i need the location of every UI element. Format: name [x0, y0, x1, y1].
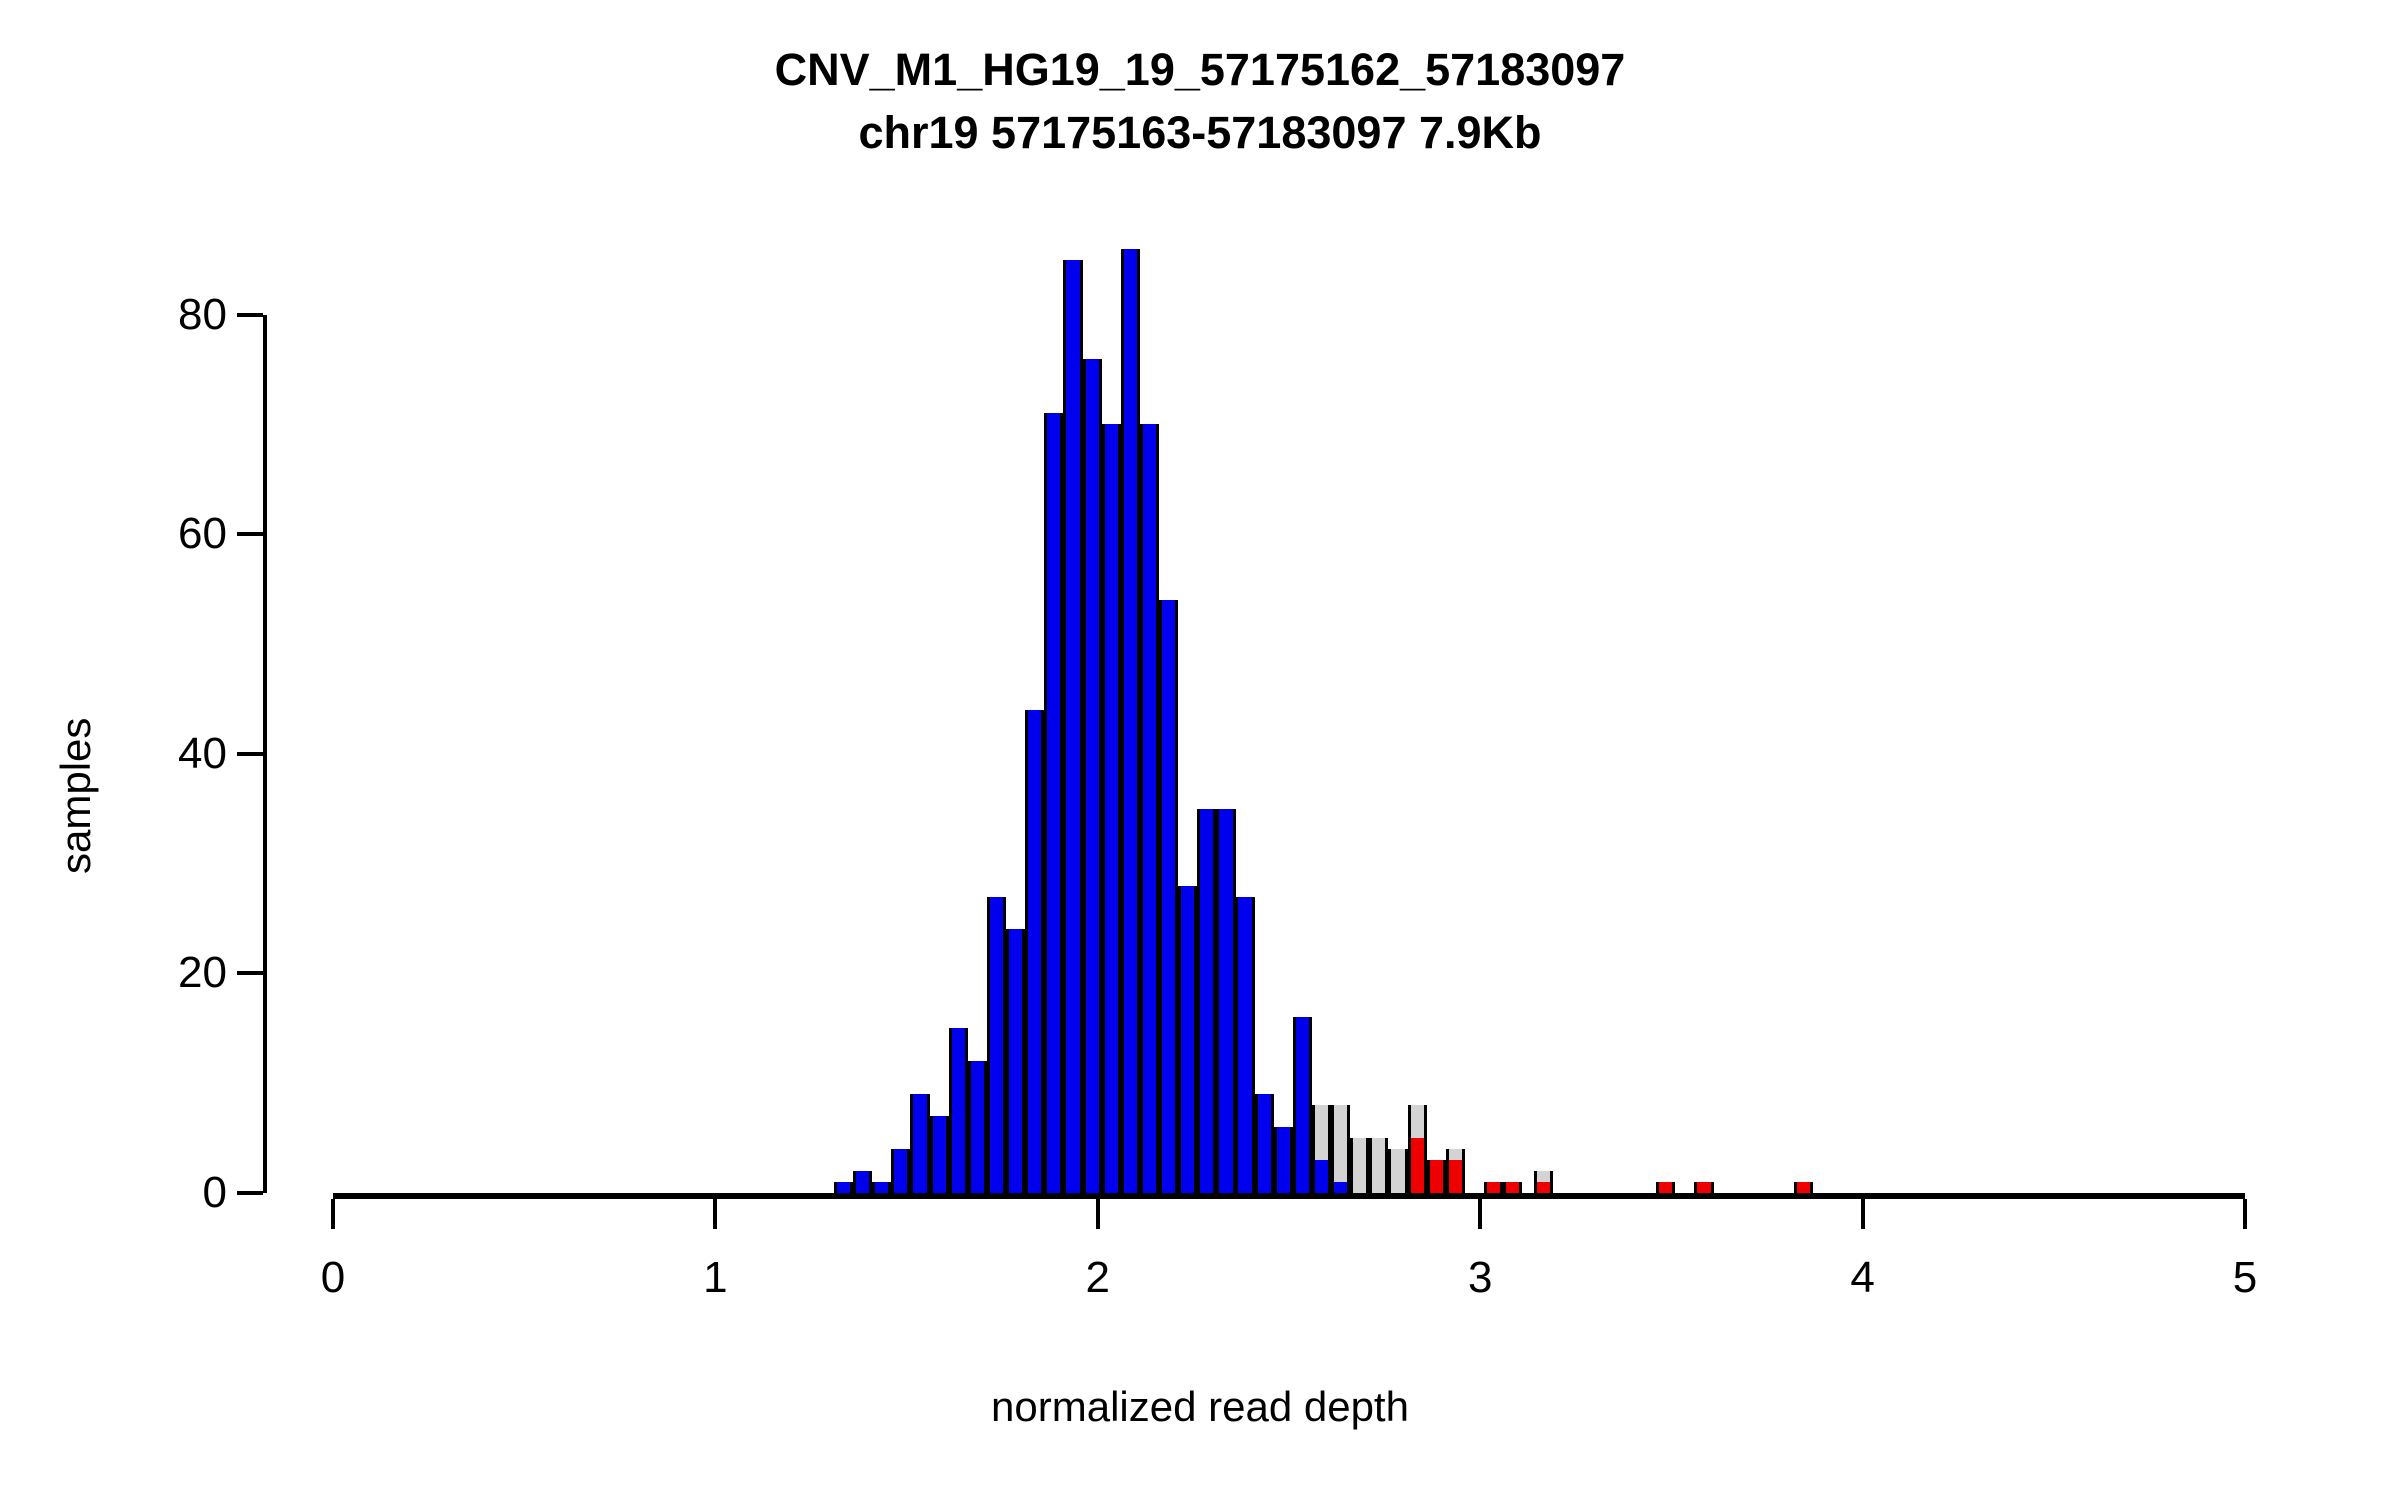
y-axis-tick: [237, 313, 263, 317]
y-axis-tick-label: 60: [178, 509, 227, 559]
bar: [1274, 1127, 1293, 1196]
bar: [1159, 600, 1178, 1196]
bar: [1006, 929, 1025, 1196]
bar: [1102, 424, 1121, 1196]
x-axis-title: normalized read depth: [0, 1383, 2400, 1431]
bar: [1331, 1105, 1350, 1196]
bar-segment-blue: [1143, 424, 1156, 1193]
bar-segment-blue: [933, 1116, 946, 1193]
bar-segment-blue: [837, 1182, 850, 1193]
bar: [1063, 260, 1082, 1196]
bar: [891, 1149, 910, 1196]
bar: [1369, 1138, 1388, 1196]
x-axis-tick: [2243, 1199, 2247, 1229]
bar: [1534, 1171, 1553, 1196]
y-axis-tick-label: 0: [203, 1168, 227, 1218]
y-axis-tick: [237, 532, 263, 536]
bar: [1293, 1017, 1312, 1196]
bar: [872, 1182, 891, 1196]
bar: [834, 1182, 853, 1196]
bar: [1121, 249, 1140, 1196]
bar-segment-grey: [1449, 1149, 1462, 1160]
bar-segment-blue: [952, 1028, 965, 1193]
y-axis-title: samples: [52, 717, 100, 873]
bar: [1427, 1160, 1446, 1196]
y-axis-tick: [237, 752, 263, 756]
x-axis-tick: [713, 1199, 717, 1229]
y-axis-tick-label: 40: [178, 729, 227, 779]
bar: [1197, 809, 1216, 1196]
bar-segment-blue: [1200, 809, 1213, 1193]
bar-segment-blue: [990, 897, 1003, 1193]
y-axis-tick: [237, 971, 263, 975]
bar-segment-blue: [1181, 886, 1194, 1193]
plot-area: 020406080012345: [0, 0, 2400, 1500]
bar-segment-red: [1506, 1182, 1519, 1193]
x-axis-tick-label: 2: [1058, 1253, 1138, 1303]
bar: [949, 1028, 968, 1196]
bar-segment-blue: [1009, 929, 1022, 1193]
x-axis-tick: [1096, 1199, 1100, 1229]
bar-segment-red: [1411, 1138, 1424, 1193]
x-axis-tick-label: 4: [1823, 1253, 1903, 1303]
bar-segment-red: [1659, 1182, 1672, 1193]
x-axis-tick: [331, 1199, 335, 1229]
bar-segment-grey: [1411, 1105, 1424, 1138]
y-axis-line: [263, 315, 267, 1193]
bar: [853, 1171, 872, 1196]
bar-segment-blue: [1334, 1182, 1347, 1193]
bar-segment-blue: [1028, 710, 1041, 1193]
bar-segment-grey: [1315, 1105, 1328, 1160]
bar: [1216, 809, 1235, 1196]
bar: [1350, 1138, 1369, 1196]
bar-segment-blue: [1277, 1127, 1290, 1193]
y-axis-tick-label: 20: [178, 948, 227, 998]
bar: [1312, 1105, 1331, 1196]
x-axis-tick-label: 1: [675, 1253, 755, 1303]
bar: [1044, 413, 1063, 1196]
bar: [1408, 1105, 1427, 1196]
bar: [930, 1116, 949, 1196]
bar: [968, 1061, 987, 1196]
bar: [1794, 1182, 1813, 1196]
bar-segment-blue: [1124, 249, 1137, 1193]
bar-segment-red: [1449, 1160, 1462, 1193]
bar-segment-blue: [1162, 600, 1175, 1193]
bar: [1388, 1149, 1407, 1196]
bar: [1484, 1182, 1503, 1196]
bar-segment-blue: [1105, 424, 1118, 1193]
bar-segment-blue: [1047, 413, 1060, 1193]
bar-segment-blue: [971, 1061, 984, 1193]
bar-segment-red: [1697, 1182, 1710, 1193]
bar-segment-grey: [1372, 1138, 1385, 1193]
bar: [1503, 1182, 1522, 1196]
bar-segment-red: [1487, 1182, 1500, 1193]
bar-segment-grey: [1391, 1149, 1404, 1193]
bar: [1446, 1149, 1465, 1196]
bar-segment-grey: [1353, 1138, 1366, 1193]
bar: [1694, 1182, 1713, 1196]
bar: [1178, 886, 1197, 1196]
y-axis-tick: [237, 1191, 263, 1195]
bar-segment-blue: [1238, 897, 1251, 1193]
bar-segment-blue: [1258, 1094, 1271, 1193]
bar-segment-blue: [1086, 359, 1099, 1193]
bar: [1255, 1094, 1274, 1196]
bar-segment-red: [1537, 1182, 1550, 1193]
bar-segment-blue: [875, 1182, 888, 1193]
x-axis-tick: [1861, 1199, 1865, 1229]
bar: [910, 1094, 929, 1196]
bar-segment-blue: [1315, 1160, 1328, 1193]
bar-segment-blue: [1296, 1017, 1309, 1193]
bar-segment-blue: [894, 1149, 907, 1193]
bar: [1140, 424, 1159, 1196]
bar: [1083, 359, 1102, 1196]
bar-segment-blue: [856, 1171, 869, 1193]
bar-segment-grey: [1334, 1105, 1347, 1182]
bar: [1656, 1182, 1675, 1196]
x-axis-tick-label: 0: [293, 1253, 373, 1303]
x-axis-tick: [1478, 1199, 1482, 1229]
bar-segment-red: [1797, 1182, 1810, 1193]
bar-segment-blue: [1219, 809, 1232, 1193]
bar-segment-grey: [1537, 1171, 1550, 1182]
x-axis-tick-label: 3: [1440, 1253, 1520, 1303]
bar-segment-blue: [1066, 260, 1079, 1193]
y-axis-tick-label: 80: [178, 290, 227, 340]
bar-segment-red: [1430, 1160, 1443, 1193]
bar: [1235, 897, 1254, 1196]
bar: [1025, 710, 1044, 1196]
histogram-figure: CNV_M1_HG19_19_57175162_57183097 chr19 5…: [0, 0, 2400, 1500]
bar-segment-blue: [913, 1094, 926, 1193]
bar: [987, 897, 1006, 1196]
x-axis-tick-label: 5: [2205, 1253, 2285, 1303]
